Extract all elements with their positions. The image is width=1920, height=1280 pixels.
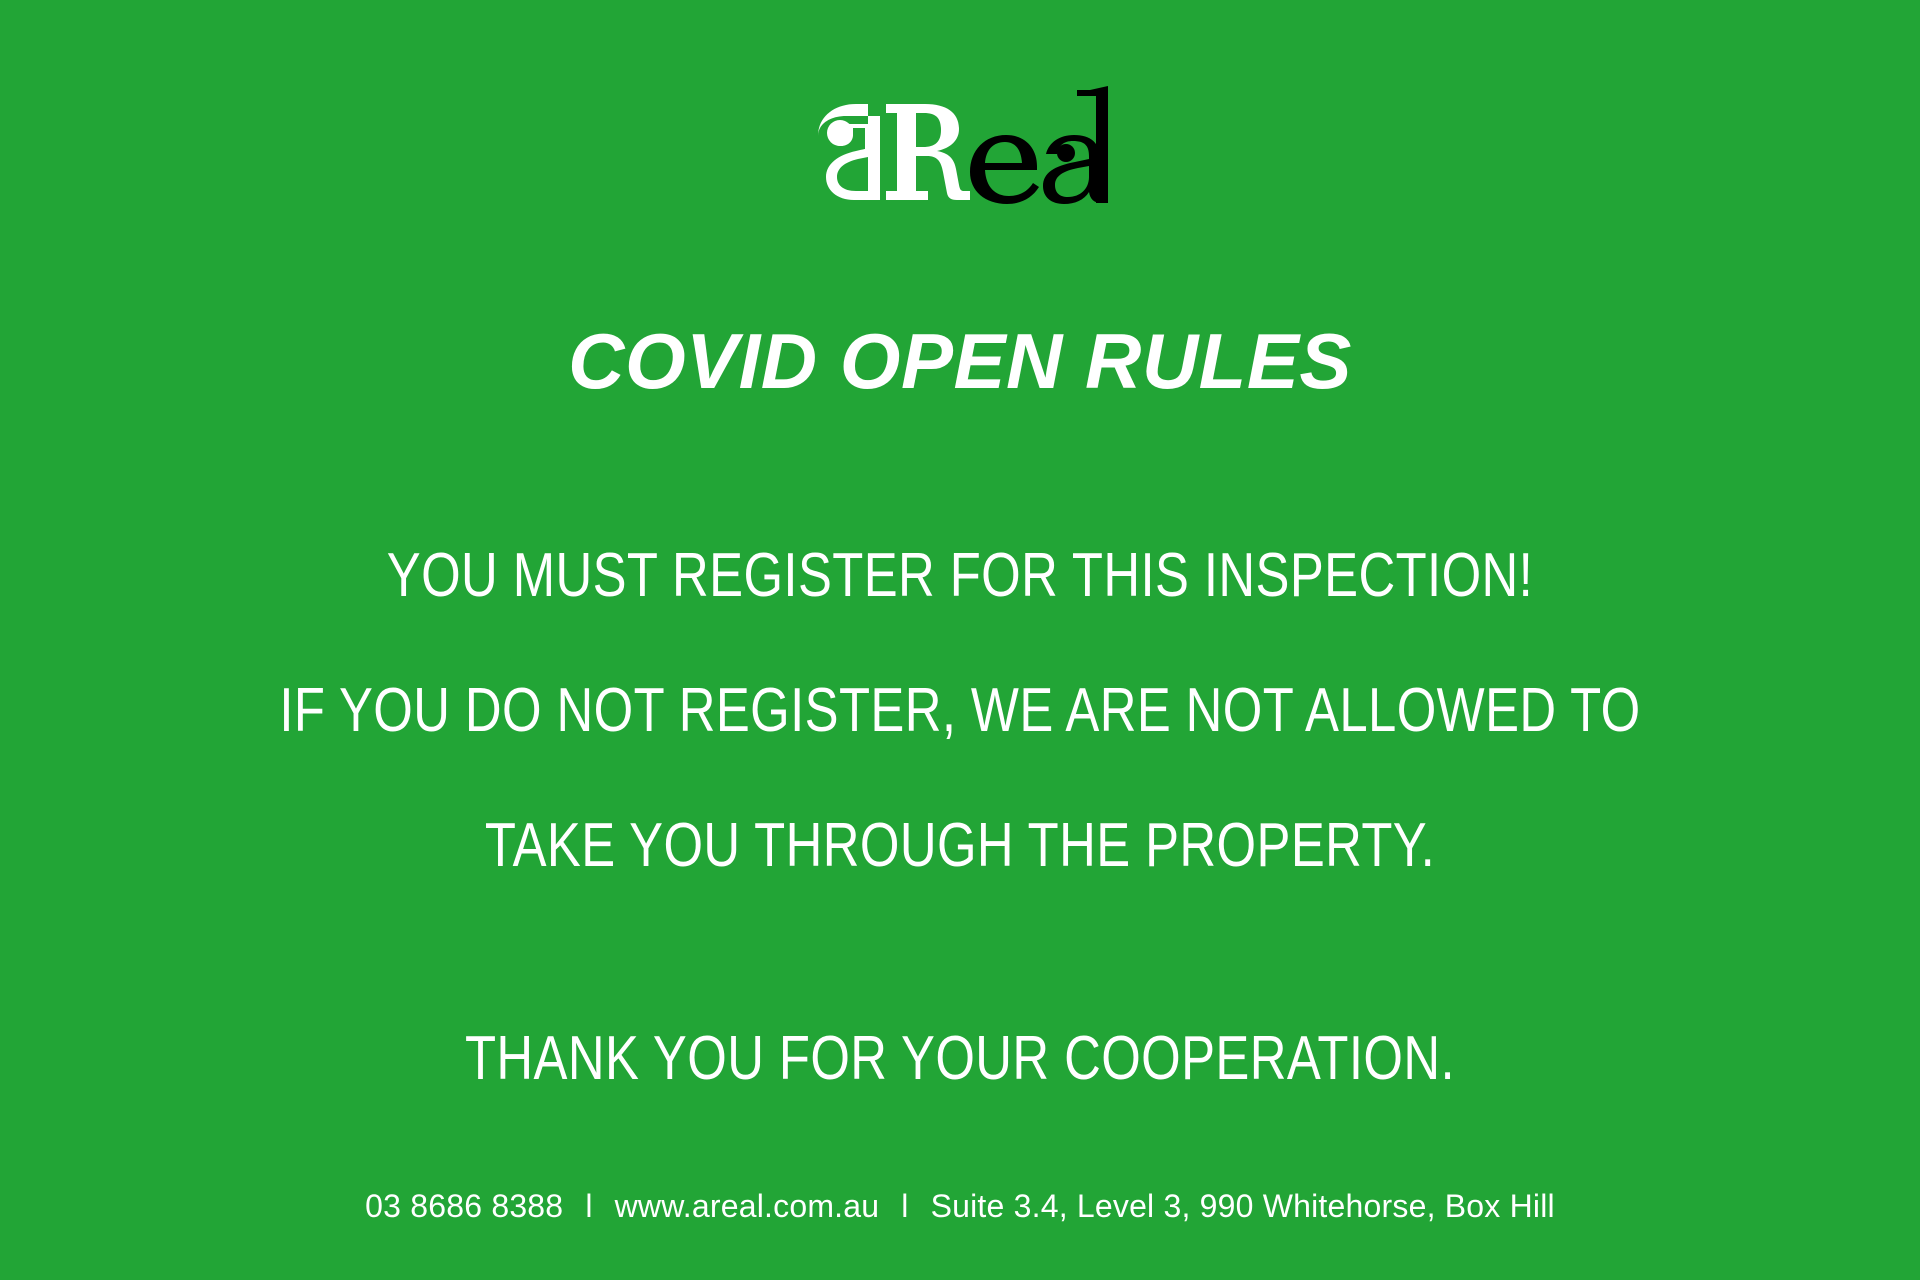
footer-website[interactable]: www.areal.com.au bbox=[615, 1188, 880, 1225]
footer-phone[interactable]: 03 8686 8388 bbox=[365, 1188, 563, 1225]
areal-logo-icon bbox=[810, 80, 1110, 208]
brand-logo bbox=[0, 78, 1920, 208]
body-text-block: YOU MUST REGISTER FOR THIS INSPECTION! I… bbox=[0, 508, 1920, 1126]
footer-address: Suite 3.4, Level 3, 990 Whitehorse, Box … bbox=[931, 1188, 1555, 1225]
footer-separator-2: l bbox=[879, 1188, 930, 1225]
body-line-2: IF YOU DO NOT REGISTER, WE ARE NOT ALLOW… bbox=[173, 643, 1747, 778]
body-line-3: TAKE YOU THROUGH THE PROPERTY. bbox=[173, 778, 1747, 913]
footer-separator-1: l bbox=[563, 1188, 614, 1225]
page-title: COVID OPEN RULES bbox=[0, 322, 1920, 400]
body-line-4: THANK YOU FOR YOUR COOPERATION. bbox=[173, 991, 1747, 1126]
body-line-1: YOU MUST REGISTER FOR THIS INSPECTION! bbox=[173, 508, 1747, 643]
footer-contact-bar: 03 8686 8388lwww.areal.com.aulSuite 3.4,… bbox=[0, 1188, 1920, 1225]
poster-canvas: COVID OPEN RULES YOU MUST REGISTER FOR T… bbox=[0, 0, 1920, 1280]
